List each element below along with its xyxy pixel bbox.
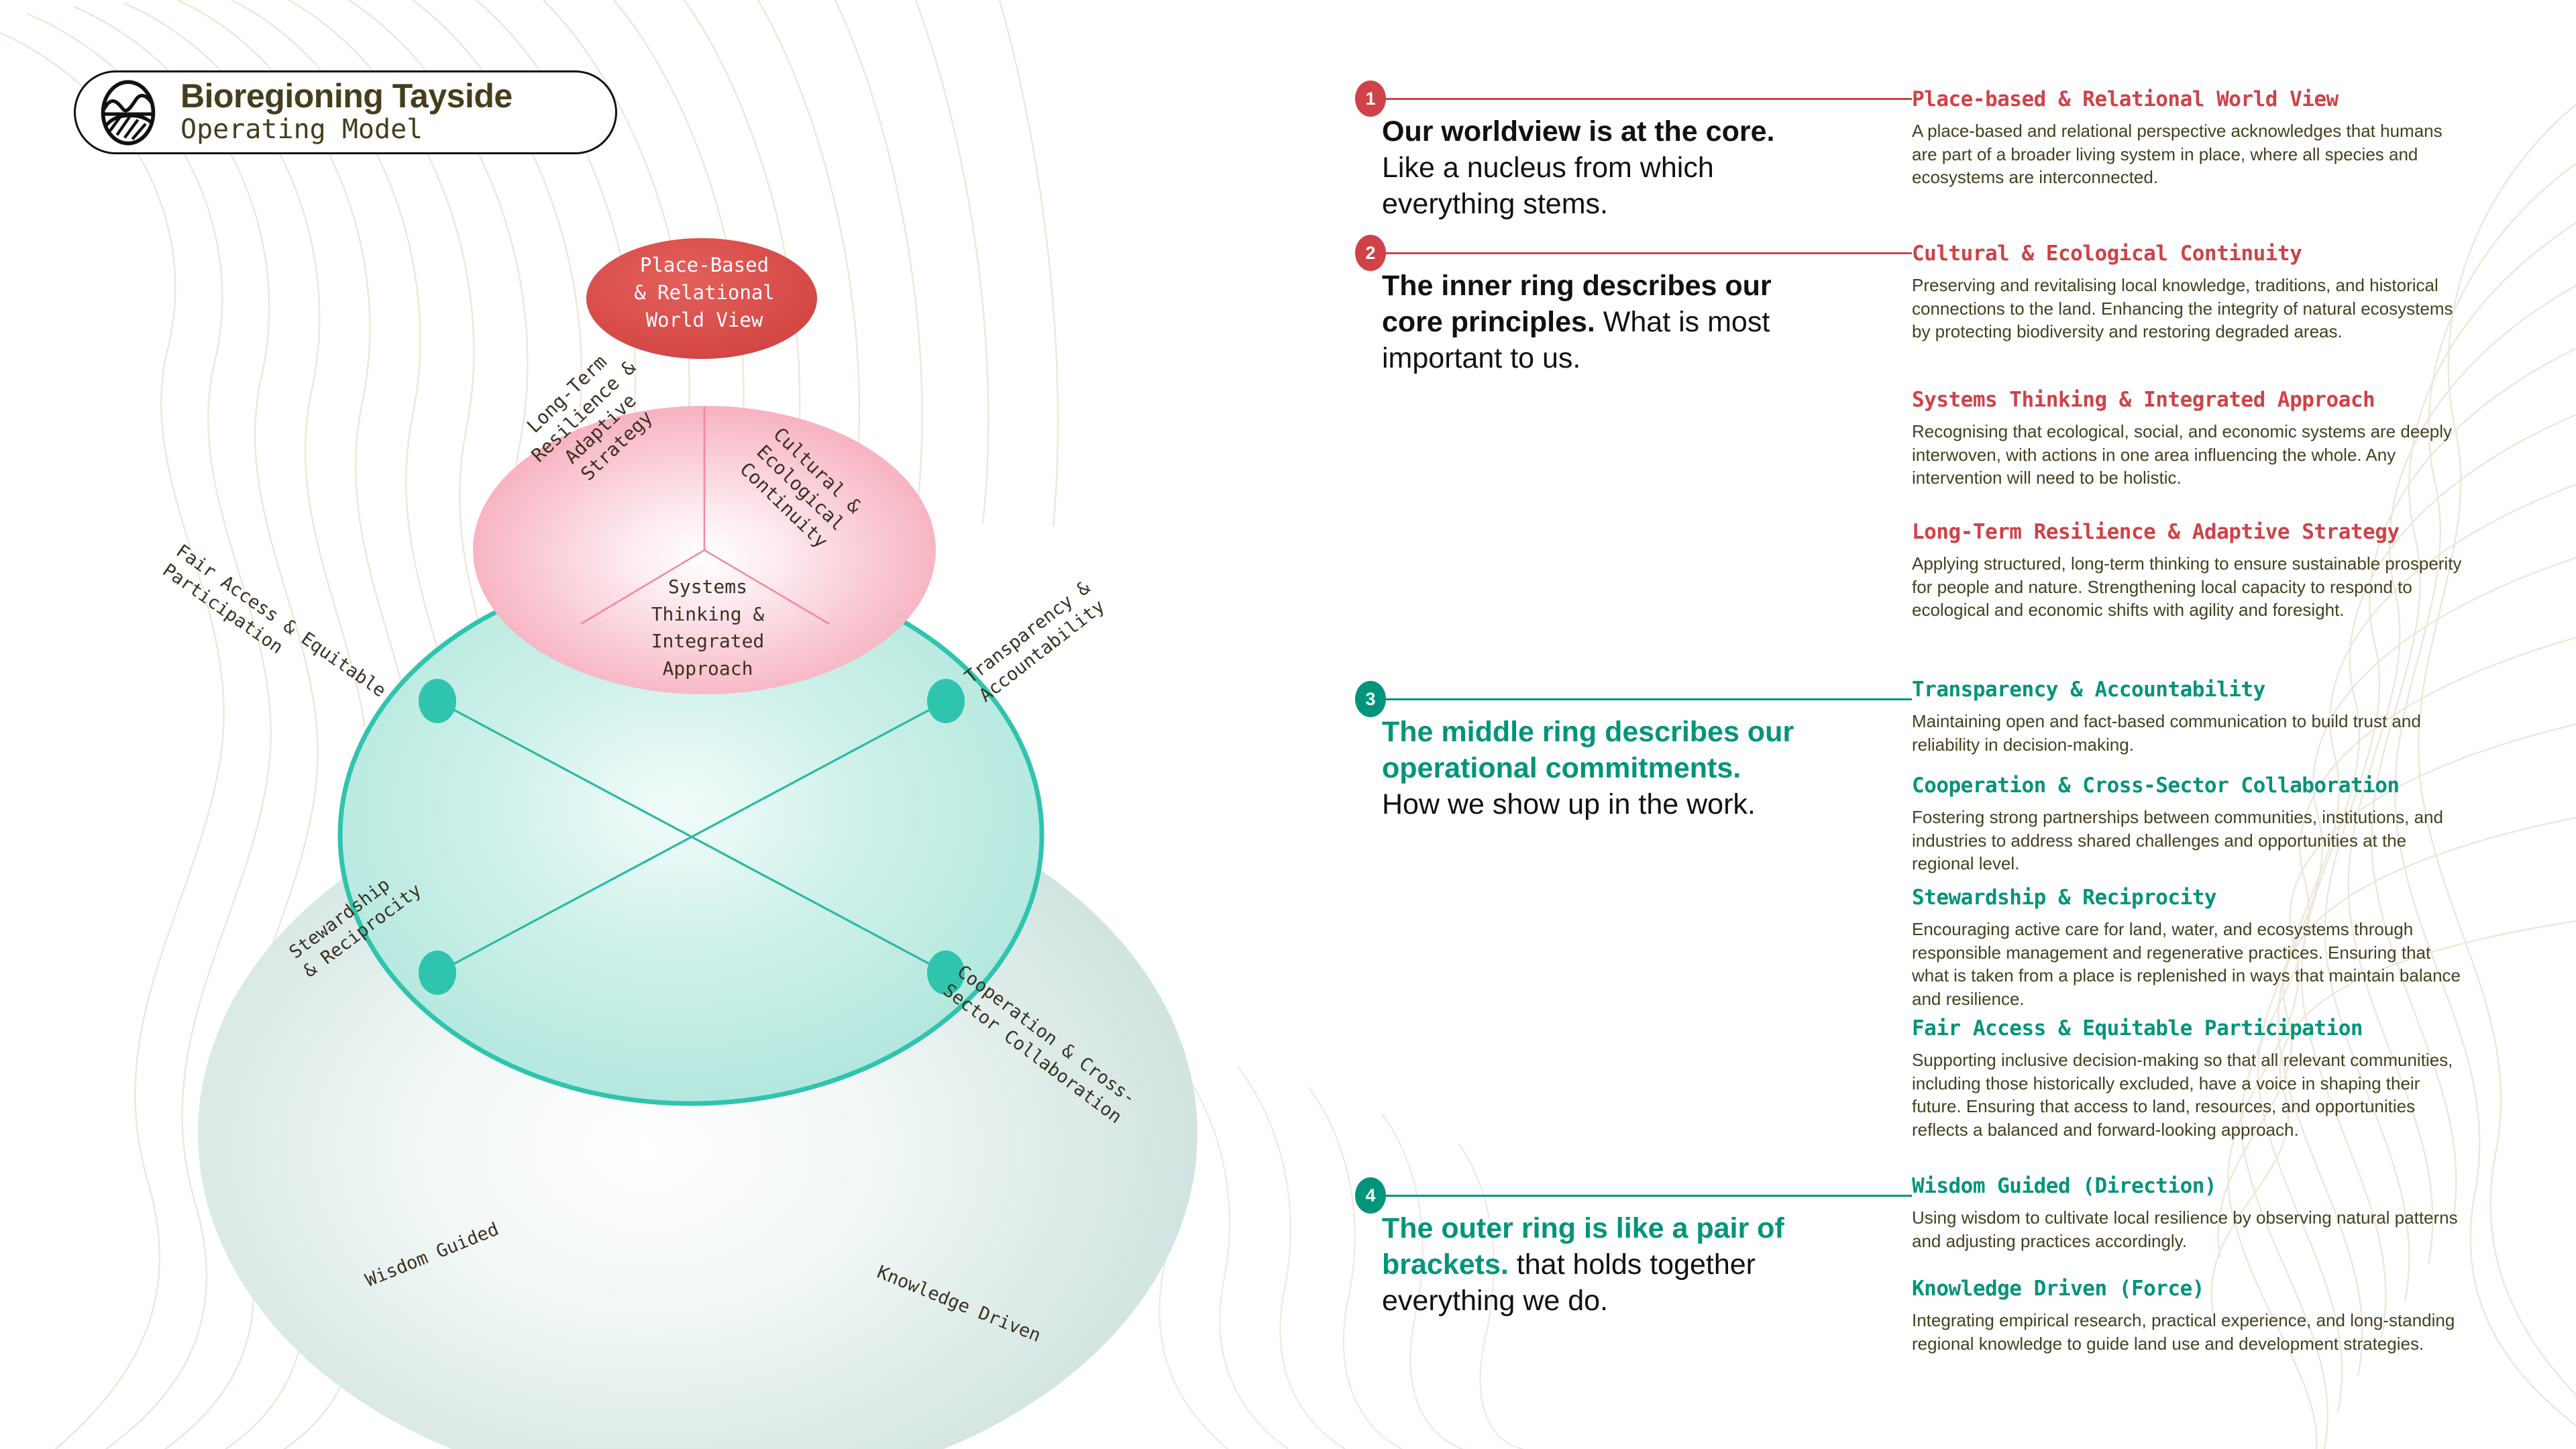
detail-item-title: Wisdom Guided (Direction) (1912, 1174, 2462, 1199)
detail-item: Stewardship & Reciprocity Encouraging ac… (1912, 885, 2462, 1011)
detail-item-title: Place-based & Relational World View (1912, 87, 2462, 112)
ring-shapes (0, 0, 1275, 1449)
detail-item: Systems Thinking & Integrated Approach R… (1912, 388, 2462, 490)
detail-item-body: Maintaining open and fact-based communic… (1912, 710, 2462, 756)
detail-item: Cultural & Ecological Continuity Preserv… (1912, 241, 2462, 343)
detail-item: Knowledge Driven (Force) Integrating emp… (1912, 1277, 2462, 1355)
detail-item-body: Encouraging active care for land, water,… (1912, 918, 2462, 1010)
section-rule (1382, 698, 1912, 700)
detail-item-title: Stewardship & Reciprocity (1912, 885, 2462, 910)
operating-model-diagram: Place-Based & Relational World View Syst… (0, 0, 1275, 1449)
detail-item-title: Long-Term Resilience & Adaptive Strategy (1912, 520, 2462, 545)
ring-node-dot (927, 679, 965, 723)
section-rule (1382, 1195, 1912, 1197)
section-rule (1382, 98, 1912, 100)
detail-item: Fair Access & Equitable Participation Su… (1912, 1016, 2462, 1142)
detail-item-body: Applying structured, long-term thinking … (1912, 552, 2462, 622)
detail-item: Cooperation & Cross-Sector Collaboration… (1912, 773, 2462, 875)
section-rule (1382, 252, 1912, 254)
section-lead-rest: How we show up in the work. (1382, 788, 1756, 820)
section-lead-bold: Our worldview is at the core. (1382, 115, 1774, 148)
section-lead-text: The outer ring is like a pair of bracket… (1382, 1211, 1798, 1319)
detail-item-title: Cultural & Ecological Continuity (1912, 241, 2462, 266)
detail-item-body: Supporting inclusive decision-making so … (1912, 1049, 2462, 1141)
core-label: Place-Based & Relational World View (590, 252, 818, 335)
detail-item: Transparency & Accountability Maintainin… (1912, 678, 2462, 756)
detail-item-body: Integrating empirical research, practica… (1912, 1309, 2462, 1355)
section-lead-text: Our worldview is at the core. Like a nuc… (1382, 114, 1798, 222)
detail-item-body: Preserving and revitalising local knowle… (1912, 274, 2462, 343)
detail-item-title: Knowledge Driven (Force) (1912, 1277, 2462, 1301)
detail-item: Place-based & Relational World View A pl… (1912, 87, 2462, 189)
infographic-canvas: Bioregioning Tayside Operating Model (0, 0, 2576, 1449)
explanation-panel: 1 Our worldview is at the core. Like a n… (1355, 0, 2576, 1449)
detail-item-body: Fostering strong partnerships between co… (1912, 806, 2462, 875)
section-lead-text: The inner ring describes our core princi… (1382, 268, 1798, 376)
section-lead-text: The middle ring describes our operationa… (1382, 714, 1798, 822)
detail-item-title: Cooperation & Cross-Sector Collaboration (1912, 773, 2462, 798)
detail-item-title: Systems Thinking & Integrated Approach (1912, 388, 2462, 413)
detail-item-title: Transparency & Accountability (1912, 678, 2462, 702)
ring-node-dot (419, 679, 456, 723)
detail-item-body: Recognising that ecological, social, and… (1912, 420, 2462, 490)
detail-item-body: Using wisdom to cultivate local resilien… (1912, 1206, 2462, 1252)
detail-item-body: A place-based and relational perspective… (1912, 119, 2462, 189)
ring-node-dot (419, 951, 456, 995)
section-lead-bold: The middle ring describes our operationa… (1382, 716, 1794, 784)
inner-ring-center-label: Systems Thinking & Integrated Approach (597, 574, 818, 682)
detail-item: Wisdom Guided (Direction) Using wisdom t… (1912, 1174, 2462, 1252)
detail-item: Long-Term Resilience & Adaptive Strategy… (1912, 520, 2462, 622)
detail-item-title: Fair Access & Equitable Participation (1912, 1016, 2462, 1041)
section-lead-rest: Like a nucleus from which everything ste… (1382, 152, 1714, 220)
